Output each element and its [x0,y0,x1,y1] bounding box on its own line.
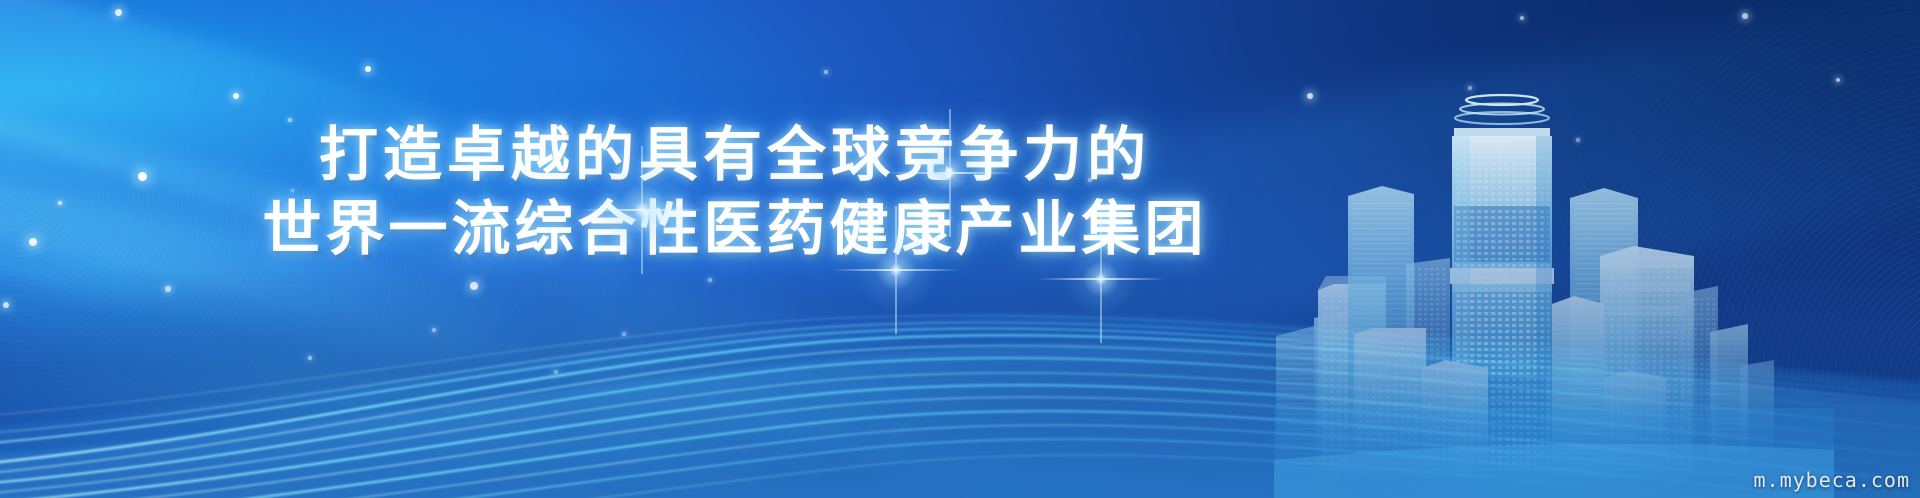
watermark: m.mybeca.com [1754,468,1911,492]
hero-banner: 打造卓越的具有全球竞争力的 世界一流综合性医药健康产业集团 m.mybeca.c… [0,0,1920,498]
background-bottom-sheen [0,269,1920,498]
